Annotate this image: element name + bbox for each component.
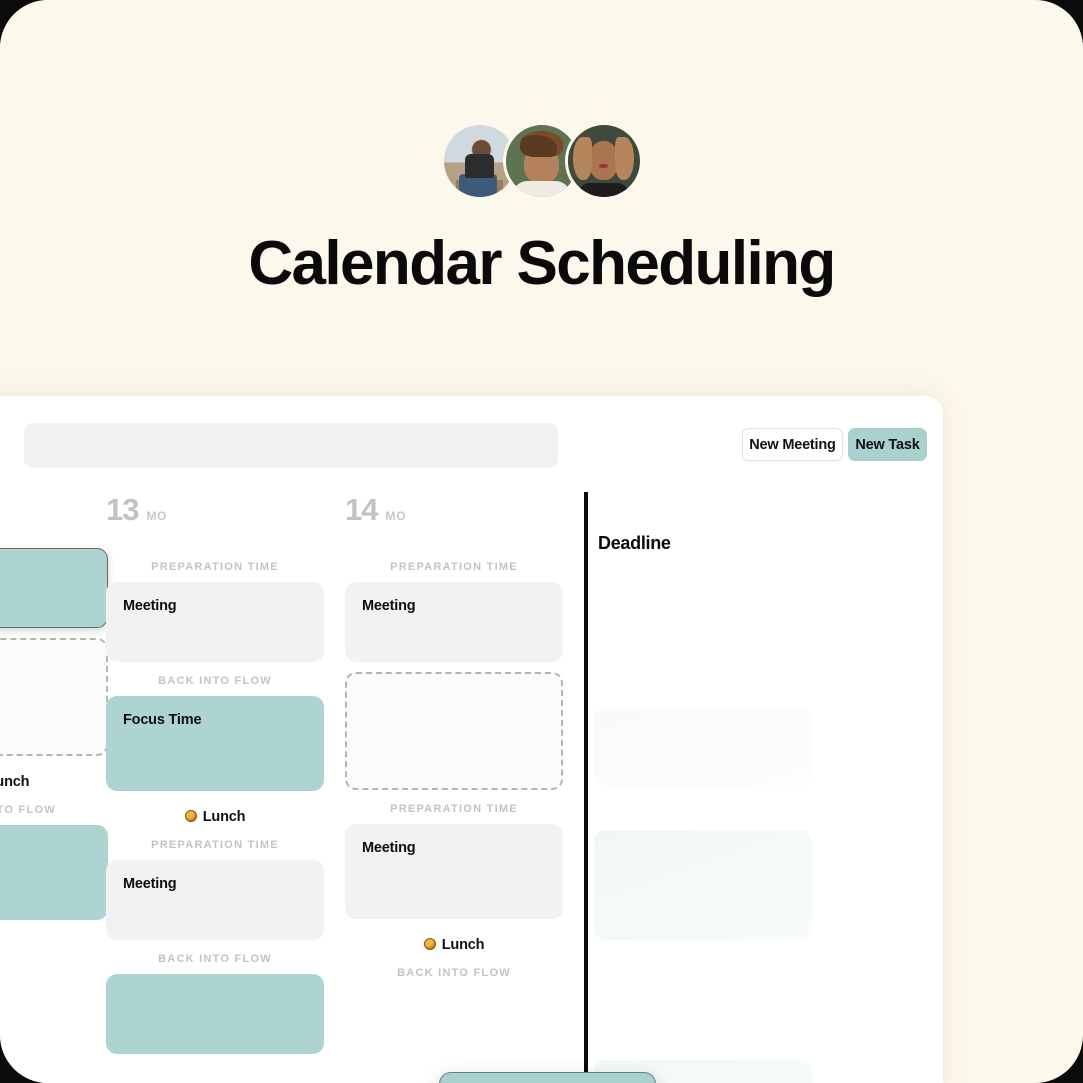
day-suffix: MO [385,509,406,523]
day-column-13: 13 MO PREPARATION TIME Meeting BACK INTO… [106,492,324,1054]
section-label: BACK INTO FLOW [106,675,324,687]
section-label: PREPARATION TIME [345,561,563,573]
event-card-focus-time[interactable]: Focus Time [106,696,324,791]
section-label: PREPARATION TIME [345,803,563,815]
new-task-button[interactable]: New Task [848,428,927,461]
day-header[interactable]: 15 MO [0,492,108,548]
avatar-group [0,122,1083,200]
section-label: BACK INTO FLOW [106,953,324,965]
drop-placeholder[interactable] [0,638,108,756]
search-input[interactable] [24,423,558,468]
drop-placeholder[interactable] [345,672,563,790]
page-title: Calendar Scheduling [0,228,1083,299]
event-card-meeting[interactable]: Meeting [106,582,324,662]
event-card-meeting[interactable]: Meeting [345,582,563,662]
cookie-icon [424,938,436,950]
app-window: New Meeting New Task 15 MO Focus Time Lu… [0,396,943,1083]
section-label: PREPARATION TIME [106,561,324,573]
deadline-card-placeholder [594,708,812,786]
day-header[interactable]: 14 MO [345,492,563,548]
section-label: BACK INTO FLOW [345,967,563,979]
lunch-marker: Lunch [106,809,324,825]
calendar-board: 15 MO Focus Time Lunch BACK INTO FLOW Fo… [0,492,943,1083]
event-card-meeting[interactable]: Meeting [106,860,324,940]
lunch-marker: Lunch [345,937,563,953]
avatar [565,122,643,200]
lunch-label: Lunch [203,809,246,825]
dragged-task-card[interactable]: Add Components [439,1072,656,1083]
deadline-card-placeholder [594,830,812,940]
event-card-focus-time[interactable]: Focus Time [0,825,108,920]
deadline-label: Deadline [598,533,671,554]
day-header[interactable]: 13 MO [106,492,324,548]
device-frame: Calendar Scheduling New Meeting New Task… [0,0,1083,1083]
lunch-marker: Lunch [0,774,108,790]
lunch-label: Lunch [442,937,485,953]
event-card-meeting[interactable]: Meeting [345,824,563,919]
event-card-focus-time[interactable]: Focus Time [0,548,108,628]
hero-section: Calendar Scheduling [0,0,1083,400]
lunch-label: Lunch [0,774,29,790]
new-meeting-button[interactable]: New Meeting [742,428,843,461]
deadline-divider [584,492,588,1083]
cookie-icon [185,810,197,822]
section-label: PREPARATION TIME [106,839,324,851]
event-card-focus-time[interactable] [106,974,324,1054]
day-column-15: 15 MO Focus Time Lunch BACK INTO FLOW Fo… [0,492,108,920]
day-column-14: 14 MO PREPARATION TIME Meeting PREPARATI… [345,492,563,988]
toolbar: New Meeting New Task [0,396,943,492]
day-suffix: MO [146,509,167,523]
day-number: 14 [345,492,377,528]
day-number: 13 [106,492,138,528]
section-label: BACK INTO FLOW [0,804,108,816]
